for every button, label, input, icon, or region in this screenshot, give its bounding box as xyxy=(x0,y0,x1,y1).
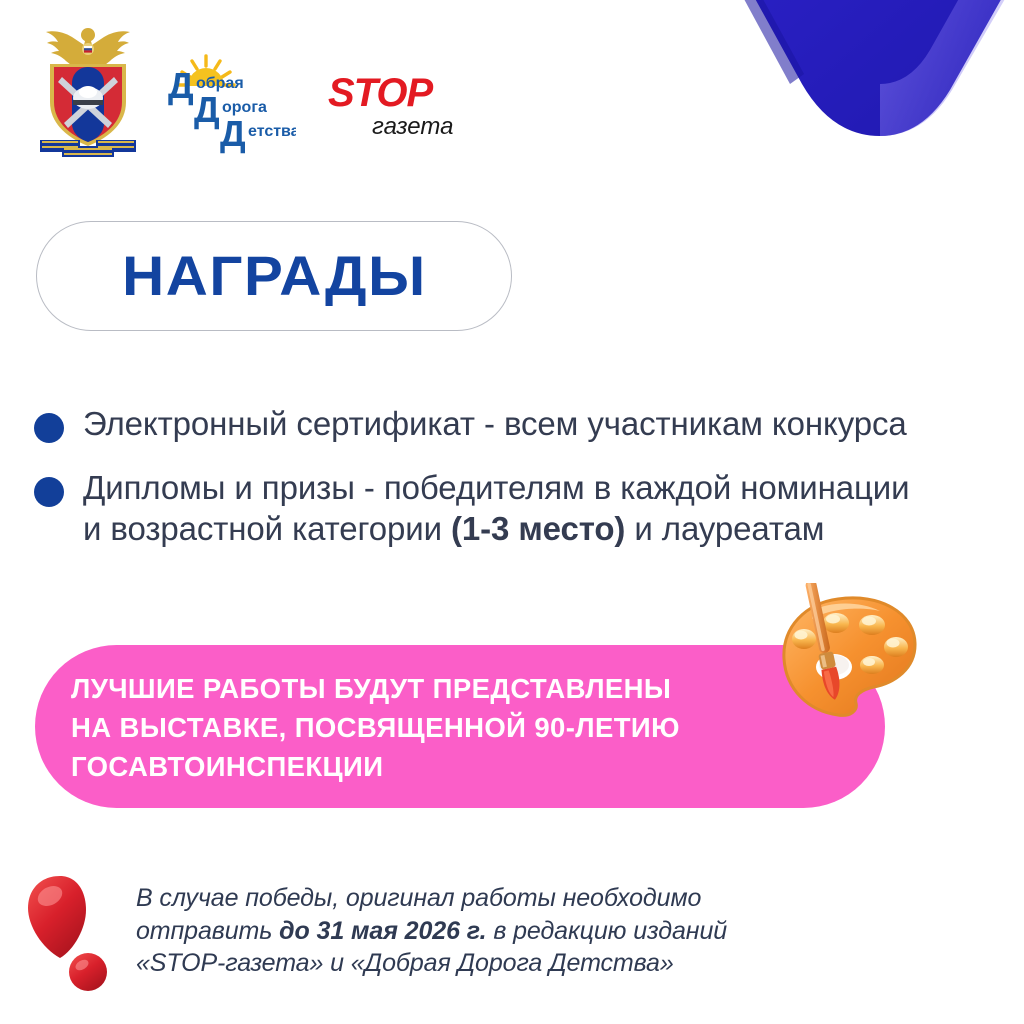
exhibition-banner: ЛУЧШИЕ РАБОТЫ БУДУТ ПРЕДСТАВЛЕНЫ НА ВЫСТ… xyxy=(35,645,885,808)
awards-list: Электронный сертификат - всем участникам… xyxy=(34,404,994,573)
ddd-letter-3: Д xyxy=(220,113,246,154)
note-line-1: В случае победы, оригинал работы необход… xyxy=(136,882,816,915)
note-line-3: «STOP-газета» и «Добрая Дорога Детства» xyxy=(136,947,816,980)
stop-wordmark: STOP xyxy=(328,71,434,115)
ddd-logo: Д Д Д обрая орога етства xyxy=(164,50,296,154)
exclamation-mark-svg xyxy=(26,872,118,994)
ddd-letter-1: Д xyxy=(168,65,194,106)
list-item-text: Дипломы и призы - победителям в каждой н… xyxy=(83,468,909,549)
bullet-dot-icon xyxy=(34,413,64,443)
ddd-letter-2: Д xyxy=(194,89,220,130)
page-title-pill: НАГРАДЫ xyxy=(36,221,512,331)
poster-canvas: Д Д Д обрая орога етства STOP газета НАГ… xyxy=(0,0,1024,1024)
mvd-emblem-logo xyxy=(34,22,142,158)
blue-chevron-svg xyxy=(600,0,1024,184)
exhibition-banner-text: ЛУЧШИЕ РАБОТЫ БУДУТ ПРЕДСТАВЛЕНЫ НА ВЫСТ… xyxy=(71,669,845,786)
list-item: Дипломы и призы - победителям в каждой н… xyxy=(34,468,994,549)
submission-note: В случае победы, оригинал работы необход… xyxy=(136,882,816,980)
banner-line-2: НА ВЫСТАВКЕ, ПОСВЯЩЕННОЙ 90-ЛЕТИЮ xyxy=(71,708,845,747)
list-item: Электронный сертификат - всем участникам… xyxy=(34,404,994,444)
list-item-text: Электронный сертификат - всем участникам… xyxy=(83,404,907,444)
ddd-word-3: етства xyxy=(248,123,296,140)
blue-chevron-decoration xyxy=(600,0,1024,184)
exclamation-mark-icon xyxy=(26,872,118,994)
banner-line-1: ЛУЧШИЕ РАБОТЫ БУДУТ ПРЕДСТАВЛЕНЫ xyxy=(71,669,845,708)
gazeta-wordmark: газета xyxy=(372,113,453,140)
banner-line-3: ГОСАВТОИНСПЕКЦИИ xyxy=(71,747,845,786)
shield-icon xyxy=(50,64,126,146)
bullet-dot-icon xyxy=(34,477,64,507)
page-title: НАГРАДЫ xyxy=(122,248,427,304)
ddd-word-2: орога xyxy=(222,99,267,116)
note-line-2: отправить до 31 мая 2026 г. в редакцию и… xyxy=(136,915,816,948)
stop-gazeta-logo: STOP газета xyxy=(324,64,464,142)
logo-row: Д Д Д обрая орога етства STOP газета xyxy=(34,22,464,158)
ddd-word-1: обрая xyxy=(196,75,244,92)
